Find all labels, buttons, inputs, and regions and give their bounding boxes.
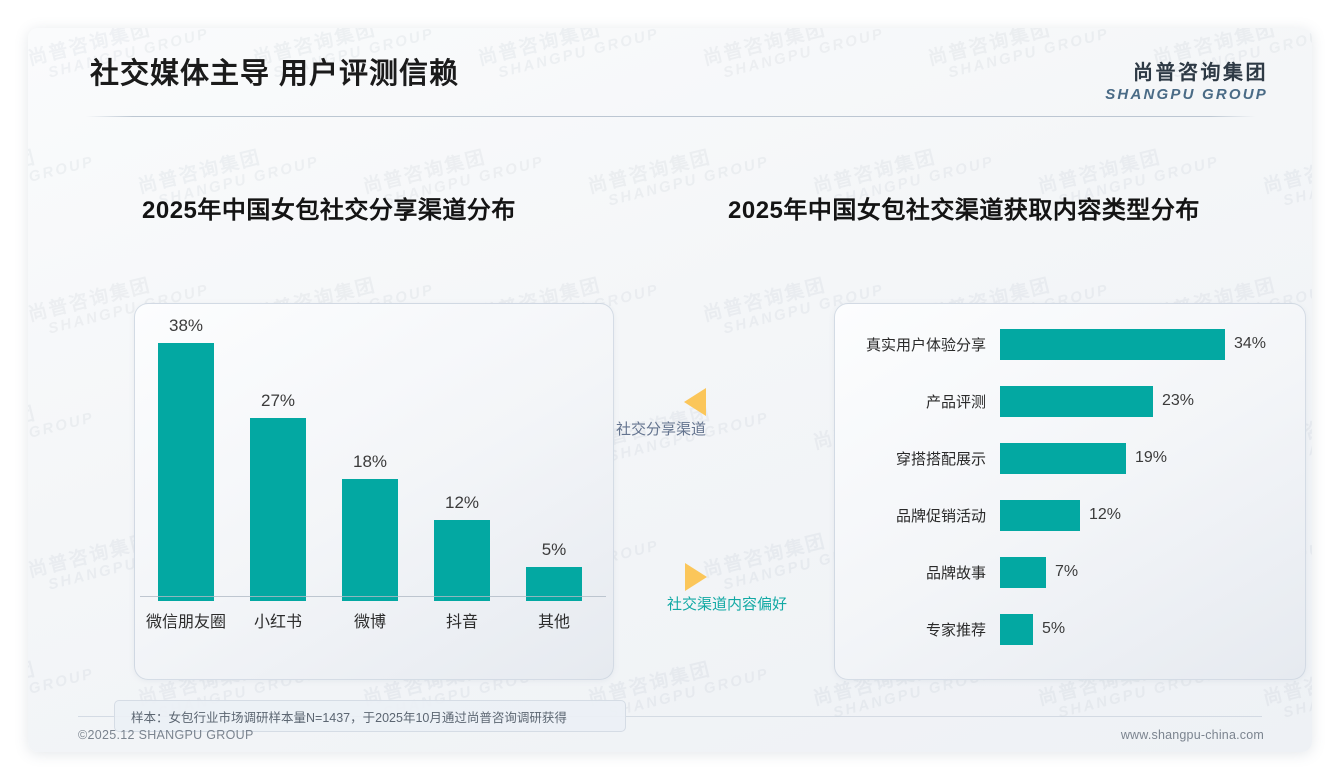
logo-en-text: SHANGPU GROUP <box>1105 86 1268 103</box>
bar-category-label: 其他 <box>508 608 600 632</box>
hbar-value-label: 19% <box>1135 449 1167 467</box>
bar-rect[interactable] <box>434 520 490 601</box>
bar-rect[interactable] <box>250 418 306 601</box>
slide-header: 社交媒体主导 用户评测信赖 尚普咨询集团 SHANGPU GROUP <box>28 28 1312 110</box>
watermark-text: 尚普咨询集团SHANGPU GROUP <box>28 135 96 214</box>
watermark-text: 尚普咨询集团SHANGPU GROUP <box>28 647 96 726</box>
footer-copyright: ©2025.12 SHANGPU GROUP <box>78 728 254 742</box>
footer-website[interactable]: www.shangpu-china.com <box>1121 728 1264 742</box>
bar-value-label: 27% <box>261 391 295 411</box>
bar-value-label: 18% <box>353 452 387 472</box>
hbar-row: 专家推荐5% <box>854 610 1286 648</box>
hbar-row: 品牌故事7% <box>854 553 1286 591</box>
bar-column: 18% <box>324 311 416 601</box>
vertical-bar-chart: 38%27%18%12%5% <box>134 311 612 601</box>
bar-rect[interactable] <box>342 479 398 601</box>
hbar-category-label: 产品评测 <box>854 391 1000 412</box>
hbar-rect[interactable] <box>1000 500 1080 531</box>
header-divider <box>86 116 1256 117</box>
hbar-row: 品牌促销活动12% <box>854 496 1286 534</box>
hbar-value-label: 12% <box>1089 506 1121 524</box>
hbar-rect[interactable] <box>1000 443 1126 474</box>
hbar-category-label: 穿搭搭配展示 <box>854 448 1000 469</box>
hbar-rect[interactable] <box>1000 557 1046 588</box>
watermark-text: 尚普咨询集团SHANGPU GROUP <box>28 391 96 470</box>
annotation-right-label: 社交渠道内容偏好 <box>667 593 787 614</box>
bar-category-label: 微信朋友圈 <box>140 608 232 632</box>
bar-column: 38% <box>140 311 232 601</box>
hbar-row: 真实用户体验分享34% <box>854 325 1286 363</box>
hbar-value-label: 7% <box>1055 563 1078 581</box>
bar-column: 12% <box>416 311 508 601</box>
chart-title-right: 2025年中国女包社交渠道获取内容类型分布 <box>728 190 1200 225</box>
page-title: 社交媒体主导 用户评测信赖 <box>90 50 459 92</box>
slide-footer: ©2025.12 SHANGPU GROUP www.shangpu-china… <box>28 720 1312 752</box>
bar-value-label: 38% <box>169 316 203 336</box>
hbar-category-label: 专家推荐 <box>854 619 1000 640</box>
annotation-left-label: 社交分享渠道 <box>616 418 706 439</box>
triangle-right-icon <box>685 563 707 591</box>
hbar-value-label: 23% <box>1162 392 1194 410</box>
bar-value-label: 12% <box>445 493 479 513</box>
bar-column: 5% <box>508 311 600 601</box>
hbar-row: 穿搭搭配展示19% <box>854 439 1286 477</box>
brand-logo: 尚普咨询集团 SHANGPU GROUP <box>1105 56 1268 103</box>
bar-column: 27% <box>232 311 324 601</box>
hbar-value-label: 34% <box>1234 335 1266 353</box>
bar-value-label: 5% <box>542 540 567 560</box>
hbar-category-label: 品牌促销活动 <box>854 505 1000 526</box>
bar-category-label: 抖音 <box>416 608 508 632</box>
annotation-content-preference: 社交渠道内容偏好 <box>685 563 787 614</box>
watermark-text: 尚普咨询集团SHANGPU GROUP <box>1261 135 1312 214</box>
hbar-category-label: 品牌故事 <box>854 562 1000 583</box>
hbar-row: 产品评测23% <box>854 382 1286 420</box>
triangle-left-icon <box>684 388 706 416</box>
chart-title-left: 2025年中国女包社交分享渠道分布 <box>142 190 516 225</box>
bar-category-label: 小红书 <box>232 608 324 632</box>
hbar-rect[interactable] <box>1000 386 1153 417</box>
hbar-category-label: 真实用户体验分享 <box>854 334 1000 355</box>
slide-canvas: 尚普咨询集团SHANGPU GROUP尚普咨询集团SHANGPU GROUP尚普… <box>28 28 1312 752</box>
logo-cn-text: 尚普咨询集团 <box>1105 56 1268 85</box>
vertical-bar-axis-line <box>140 596 606 597</box>
bar-rect[interactable] <box>158 343 214 601</box>
bar-category-label: 微博 <box>324 608 416 632</box>
hbar-rect[interactable] <box>1000 614 1033 645</box>
hbar-value-label: 5% <box>1042 620 1065 638</box>
hbar-rect[interactable] <box>1000 329 1225 360</box>
annotation-social-share-channel: 社交分享渠道 <box>616 388 706 439</box>
